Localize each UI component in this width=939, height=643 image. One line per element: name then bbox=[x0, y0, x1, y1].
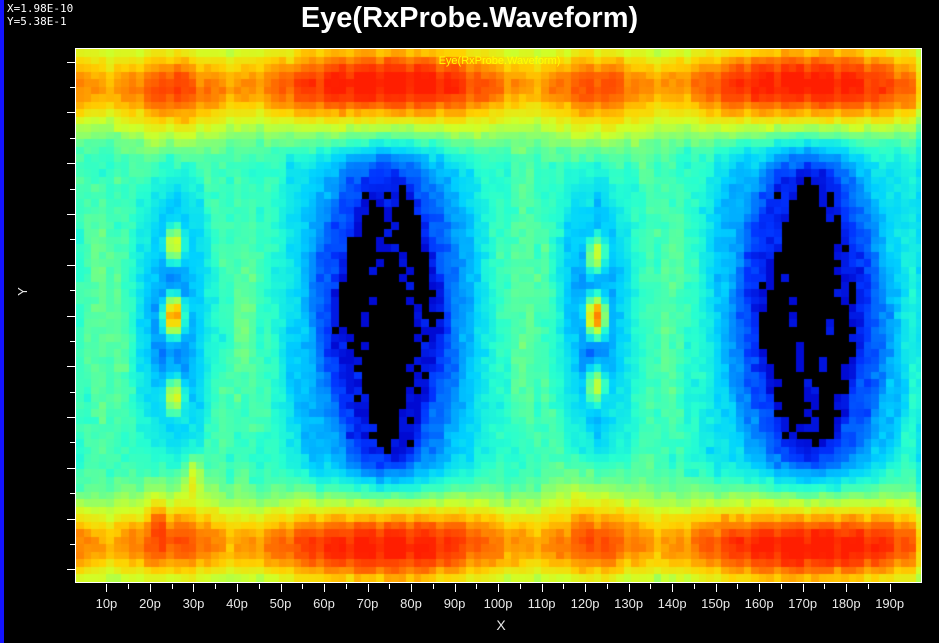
x-axis-tick bbox=[324, 584, 325, 592]
x-axis-tick-label: 180p bbox=[832, 596, 861, 611]
x-axis-tick-label: 160p bbox=[745, 596, 774, 611]
x-axis-tick-label: 10p bbox=[96, 596, 118, 611]
plot-frame[interactable]: Eye(RxProbe.Waveform) bbox=[75, 48, 922, 583]
y-axis-tick bbox=[67, 112, 75, 113]
y-axis-tick bbox=[67, 265, 75, 266]
x-axis-tick-label: 170p bbox=[788, 596, 817, 611]
x-axis-tick-label: 80p bbox=[400, 596, 422, 611]
y-axis-title: Y bbox=[15, 287, 30, 296]
y-axis-tick bbox=[67, 163, 75, 164]
x-axis-minor-tick bbox=[433, 584, 434, 589]
x-axis-minor-tick bbox=[694, 584, 695, 589]
x-axis-minor-tick bbox=[259, 584, 260, 589]
x-axis-tick bbox=[759, 584, 760, 592]
x-axis-minor-tick bbox=[389, 584, 390, 589]
x-axis-minor-tick bbox=[476, 584, 477, 589]
x-axis-tick bbox=[672, 584, 673, 592]
x-axis-tick bbox=[542, 584, 543, 592]
y-axis-tick bbox=[67, 366, 75, 367]
x-axis-tick bbox=[237, 584, 238, 592]
x-axis-tick bbox=[629, 584, 630, 592]
x-axis-minor-tick bbox=[346, 584, 347, 589]
x-axis-minor-tick bbox=[563, 584, 564, 589]
y-axis-tick bbox=[67, 316, 75, 317]
x-axis-tick bbox=[846, 584, 847, 592]
x-axis-minor-tick bbox=[128, 584, 129, 589]
x-axis-tick bbox=[455, 584, 456, 592]
x-axis-tick bbox=[281, 584, 282, 592]
page-title: Eye(RxProbe.Waveform) bbox=[0, 2, 939, 35]
x-axis-minor-tick bbox=[520, 584, 521, 589]
x-axis-minor-tick bbox=[868, 584, 869, 589]
x-axis-minor-tick bbox=[781, 584, 782, 589]
x-axis-tick-label: 30p bbox=[183, 596, 205, 611]
x-axis-tick bbox=[890, 584, 891, 592]
x-axis-tick bbox=[193, 584, 194, 592]
x-axis-tick-label: 130p bbox=[614, 596, 643, 611]
x-axis-tick bbox=[716, 584, 717, 592]
y-axis-tick bbox=[67, 214, 75, 215]
y-axis-tick bbox=[67, 62, 75, 63]
x-axis-tick-label: 70p bbox=[357, 596, 379, 611]
x-axis-title: X bbox=[0, 617, 939, 633]
x-axis-minor-tick bbox=[650, 584, 651, 589]
x-axis-tick-label: 120p bbox=[571, 596, 600, 611]
eye-diagram-heatmap[interactable] bbox=[76, 49, 921, 582]
x-axis-tick bbox=[411, 584, 412, 592]
x-axis-tick-label: 110p bbox=[528, 596, 556, 611]
x-axis-tick bbox=[803, 584, 804, 592]
y-axis-tick bbox=[67, 468, 75, 469]
x-axis-tick-label: 60p bbox=[313, 596, 335, 611]
x-axis-minor-tick bbox=[607, 584, 608, 589]
y-axis-tick-labels: 0.50.40.30.20.10-0.1-0.2-0.3-0.4-0.5 bbox=[0, 0, 67, 643]
x-axis-tick-label: 190p bbox=[875, 596, 904, 611]
x-axis-minor-tick bbox=[824, 584, 825, 589]
y-axis-tick bbox=[67, 519, 75, 520]
y-axis-tick bbox=[67, 417, 75, 418]
x-axis-minor-tick bbox=[172, 584, 173, 589]
x-axis-tick-label: 50p bbox=[270, 596, 292, 611]
x-axis-tick-label: 40p bbox=[226, 596, 248, 611]
x-axis-tick bbox=[150, 584, 151, 592]
x-axis-tick-label: 140p bbox=[658, 596, 687, 611]
x-axis-tick bbox=[106, 584, 107, 592]
x-axis-tick-label: 100p bbox=[484, 596, 513, 611]
x-axis-tick-label: 90p bbox=[444, 596, 466, 611]
y-axis-tick bbox=[67, 569, 75, 570]
x-axis-minor-tick bbox=[302, 584, 303, 589]
x-axis-tick bbox=[498, 584, 499, 592]
x-axis-tick-label: 150p bbox=[701, 596, 730, 611]
x-axis-tick bbox=[585, 584, 586, 592]
x-axis-tick-label: 20p bbox=[139, 596, 161, 611]
x-axis-minor-tick bbox=[737, 584, 738, 589]
x-axis-tick bbox=[368, 584, 369, 592]
x-axis-minor-tick bbox=[215, 584, 216, 589]
